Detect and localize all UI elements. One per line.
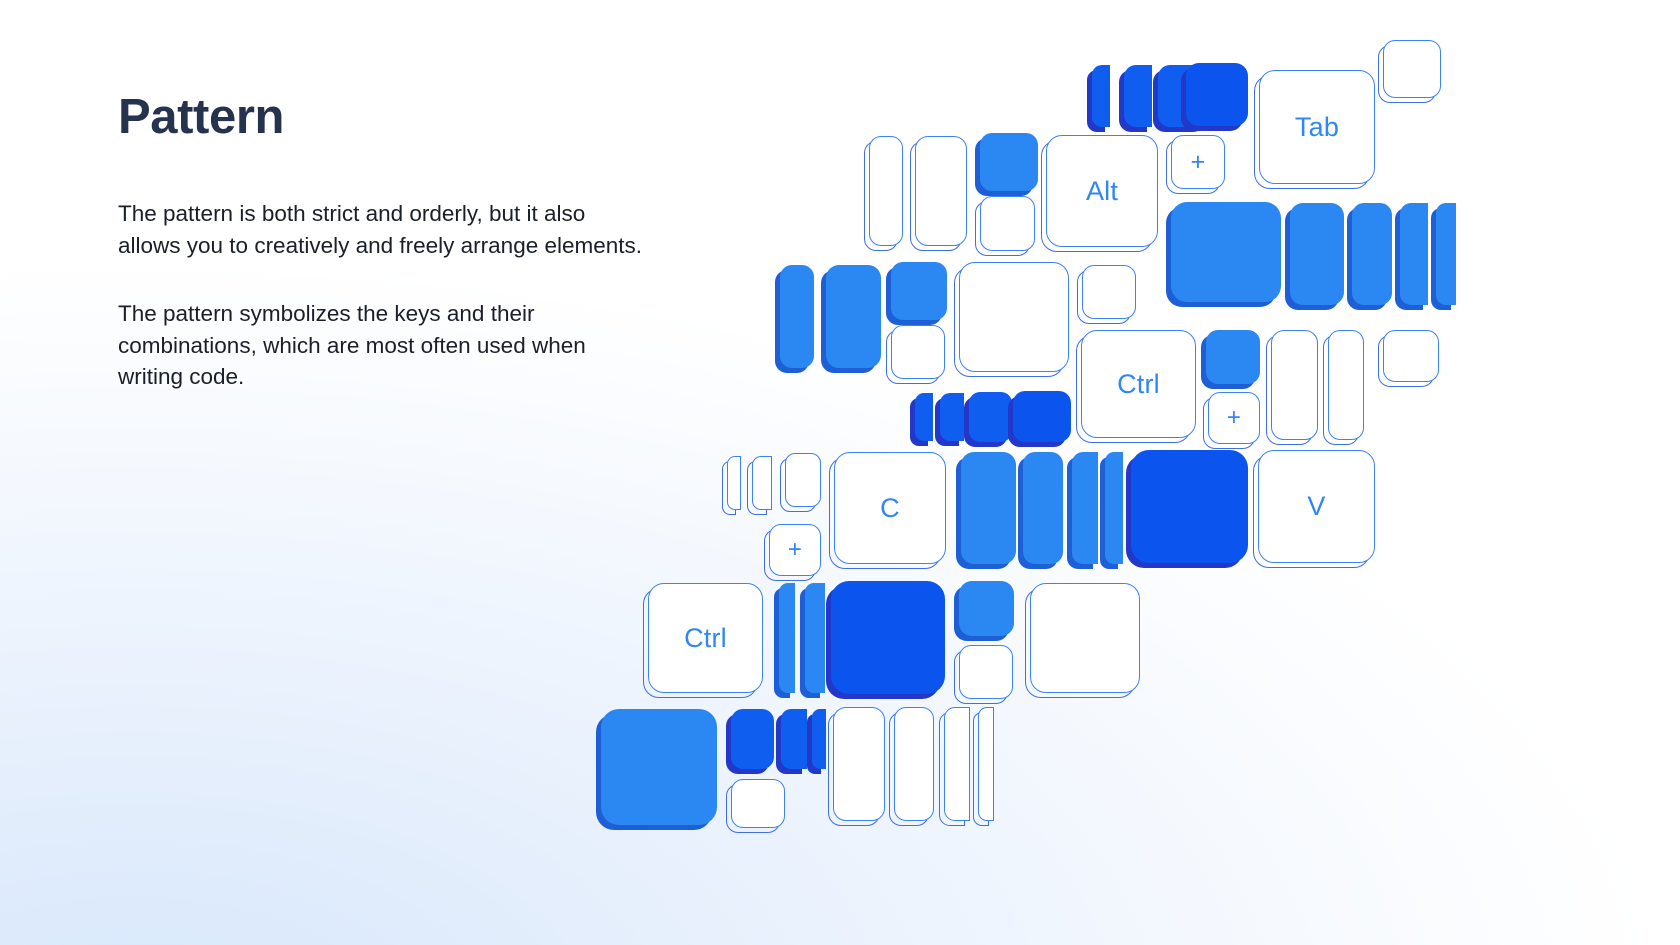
key-blank[interactable]	[601, 709, 717, 825]
key-face	[1271, 330, 1318, 440]
key-face: Ctrl	[648, 583, 763, 693]
key-face	[1328, 330, 1364, 440]
key-blank[interactable]	[894, 707, 934, 821]
key-blank[interactable]	[915, 393, 933, 441]
key-face	[980, 196, 1035, 251]
key-face	[961, 452, 1016, 564]
key-face	[826, 265, 881, 368]
key-face	[959, 581, 1014, 636]
key-blank[interactable]	[869, 136, 903, 246]
key-label: V	[1307, 493, 1325, 520]
key-v[interactable]: V	[1258, 450, 1375, 563]
key-label: +	[1227, 406, 1241, 430]
key-blank[interactable]	[833, 707, 885, 821]
keyboard-key-pattern: TabAlt+Ctrl++CVCtrl	[0, 0, 1680, 945]
key-face	[781, 709, 807, 769]
key-face	[978, 707, 994, 821]
key-face	[833, 707, 885, 821]
key-blank[interactable]	[727, 456, 741, 510]
key-face	[1186, 63, 1248, 126]
key-blank[interactable]	[826, 265, 881, 368]
key-blank[interactable]	[812, 709, 826, 769]
key-plus[interactable]: +	[1208, 392, 1260, 444]
key-label: Tab	[1295, 114, 1339, 141]
key-blank[interactable]	[978, 707, 994, 821]
key-face	[959, 262, 1069, 372]
key-blank[interactable]	[1072, 452, 1098, 564]
key-face	[1436, 203, 1456, 305]
key-face	[869, 136, 903, 246]
key-face	[601, 709, 717, 825]
key-face	[915, 136, 967, 246]
key-plus[interactable]: +	[1171, 135, 1225, 189]
key-face	[752, 456, 772, 510]
key-blank[interactable]	[1290, 203, 1344, 305]
key-blank[interactable]	[959, 645, 1013, 699]
key-blank[interactable]	[891, 325, 945, 379]
key-label: Ctrl	[684, 625, 727, 652]
key-blank[interactable]	[1171, 202, 1281, 302]
key-blank[interactable]	[831, 581, 945, 694]
key-blank[interactable]	[891, 262, 947, 320]
key-face	[1290, 203, 1344, 305]
key-face: V	[1258, 450, 1375, 563]
slide-canvas: Pattern The pattern is both strict and o…	[0, 0, 1680, 945]
key-face	[1105, 452, 1123, 564]
key-face	[894, 707, 934, 821]
key-blank[interactable]	[1082, 265, 1136, 319]
key-face	[731, 709, 774, 769]
key-blank[interactable]	[1436, 203, 1456, 305]
key-face	[969, 392, 1012, 442]
key-face	[1383, 40, 1441, 98]
key-face	[891, 262, 947, 320]
key-face	[891, 325, 945, 379]
key-blank[interactable]	[1206, 330, 1260, 384]
key-blank[interactable]	[1352, 203, 1392, 305]
key-label: Ctrl	[1117, 371, 1160, 398]
key-face	[915, 393, 933, 441]
key-face	[1082, 265, 1136, 319]
key-face	[812, 709, 826, 769]
key-face: Ctrl	[1081, 330, 1196, 438]
key-blank[interactable]	[915, 136, 967, 246]
key-blank[interactable]	[805, 583, 825, 693]
key-face	[831, 581, 945, 694]
key-blank[interactable]	[959, 262, 1069, 372]
key-blank[interactable]	[959, 581, 1014, 636]
key-blank[interactable]	[944, 707, 970, 821]
key-face	[1171, 202, 1281, 302]
key-ctrl[interactable]: Ctrl	[648, 583, 763, 693]
key-face	[1030, 583, 1140, 693]
key-face	[1023, 452, 1063, 564]
key-alt[interactable]: Alt	[1046, 135, 1158, 247]
key-face	[940, 393, 964, 441]
key-face	[944, 707, 970, 821]
key-blank[interactable]	[1383, 330, 1439, 382]
key-blank[interactable]	[961, 452, 1016, 564]
key-face	[727, 456, 741, 510]
key-face	[980, 133, 1038, 191]
key-blank[interactable]	[1124, 65, 1152, 127]
key-ctrl[interactable]: Ctrl	[1081, 330, 1196, 438]
key-blank[interactable]	[1105, 452, 1123, 564]
key-blank[interactable]	[1131, 450, 1248, 563]
key-face	[1072, 452, 1098, 564]
key-face: +	[769, 524, 821, 576]
key-label: C	[880, 495, 900, 522]
key-face	[1131, 450, 1248, 563]
key-blank[interactable]	[940, 393, 964, 441]
key-blank[interactable]	[752, 456, 772, 510]
key-blank[interactable]	[969, 392, 1012, 442]
key-blank[interactable]	[779, 583, 795, 693]
key-blank[interactable]	[1030, 583, 1140, 693]
key-face	[731, 779, 785, 828]
key-face	[805, 583, 825, 693]
key-blank[interactable]	[780, 265, 814, 368]
key-blank[interactable]	[785, 453, 821, 507]
key-face	[779, 583, 795, 693]
key-tab[interactable]: Tab	[1259, 70, 1375, 184]
key-face	[780, 265, 814, 368]
key-face	[1352, 203, 1392, 305]
key-face: +	[1171, 135, 1225, 189]
key-blank[interactable]	[731, 779, 785, 828]
key-blank[interactable]	[980, 196, 1035, 251]
key-face	[785, 453, 821, 507]
key-face	[1092, 65, 1110, 127]
key-face: Alt	[1046, 135, 1158, 247]
key-blank[interactable]	[1186, 63, 1248, 126]
key-blank[interactable]	[1023, 452, 1063, 564]
key-face	[1124, 65, 1152, 127]
key-face	[1013, 391, 1071, 442]
key-plus[interactable]: +	[769, 524, 821, 576]
key-label: Alt	[1086, 178, 1118, 205]
key-blank[interactable]	[731, 709, 774, 769]
key-face: Tab	[1259, 70, 1375, 184]
key-face: +	[1208, 392, 1260, 444]
key-blank[interactable]	[1271, 330, 1318, 440]
key-face	[1206, 330, 1260, 384]
key-label: +	[788, 538, 802, 562]
key-label: +	[1191, 150, 1206, 175]
key-face	[1400, 203, 1428, 305]
key-blank[interactable]	[1383, 40, 1441, 98]
key-blank[interactable]	[980, 133, 1038, 191]
key-face	[959, 645, 1013, 699]
key-blank[interactable]	[1013, 391, 1071, 442]
key-blank[interactable]	[1328, 330, 1364, 440]
key-face	[1383, 330, 1439, 382]
key-blank[interactable]	[1092, 65, 1110, 127]
key-blank[interactable]	[1400, 203, 1428, 305]
key-face: C	[834, 452, 946, 564]
key-c[interactable]: C	[834, 452, 946, 564]
key-blank[interactable]	[781, 709, 807, 769]
